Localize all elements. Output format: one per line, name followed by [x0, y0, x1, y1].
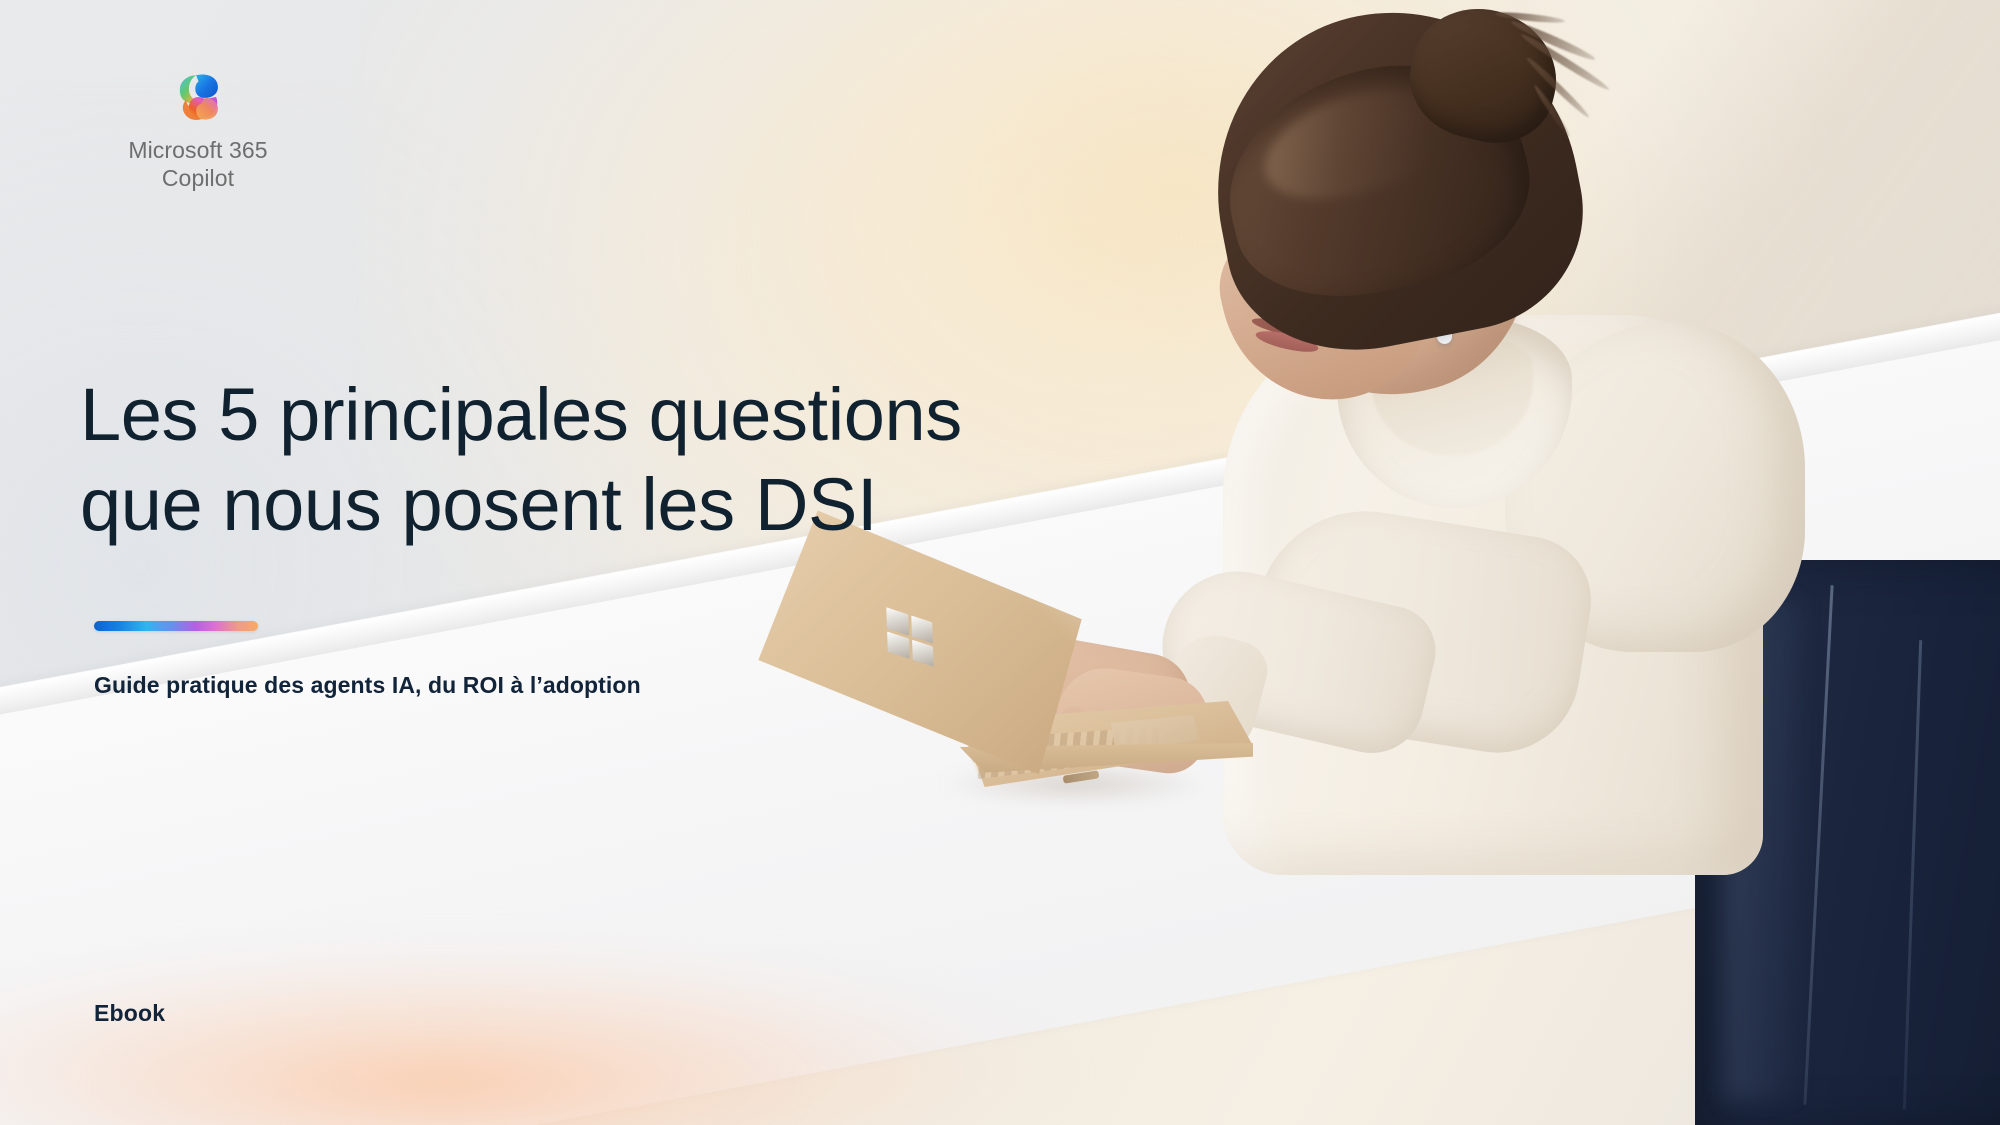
microsoft-365-copilot-logo-icon: [169, 68, 227, 126]
brand-logo: Microsoft 365 Copilot: [78, 68, 318, 192]
page-title-line1: Les 5 principales questions: [80, 370, 1130, 460]
brand-logo-line1: Microsoft 365: [78, 136, 318, 164]
brand-logo-line2: Copilot: [78, 164, 318, 192]
page-title: Les 5 principales questions que nous pos…: [80, 370, 1130, 551]
brand-logo-text: Microsoft 365 Copilot: [78, 136, 318, 192]
document-type-label: Ebook: [94, 1000, 165, 1027]
ebook-cover-page: Microsoft 365 Copilot Les 5 principales …: [0, 0, 2000, 1125]
page-title-line2: que nous posent les DSI: [80, 460, 1130, 550]
page-subtitle: Guide pratique des agents IA, du ROI à l…: [94, 672, 641, 699]
gradient-rule: [94, 621, 258, 631]
desk-warm-glow-core: [80, 1019, 800, 1125]
